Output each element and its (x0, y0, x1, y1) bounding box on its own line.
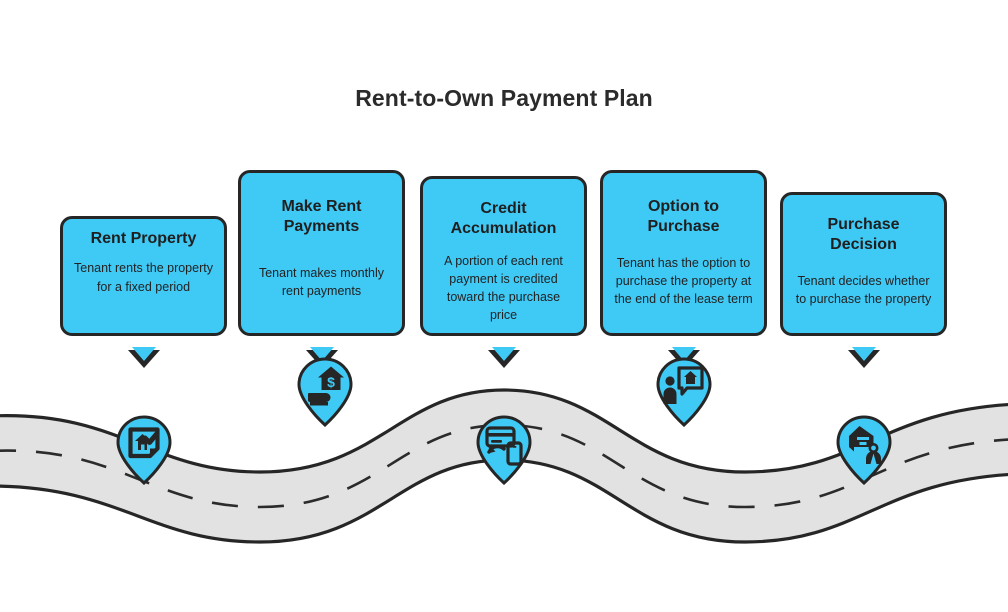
svg-text:$: $ (327, 374, 335, 390)
step-title: Credit Accumulation (433, 199, 574, 240)
step-title: Rent Property (91, 229, 197, 249)
step-description: Tenant has the option to purchase the pr… (613, 254, 754, 308)
house-dollar-hand-icon: $ (296, 357, 354, 427)
credit-card-mobile-payment-icon (475, 415, 533, 485)
map-pin-4[interactable] (655, 357, 713, 427)
step-card-2[interactable]: Make Rent Payments Tenant makes monthly … (238, 170, 405, 336)
step-title: Purchase Decision (793, 215, 934, 256)
step-card-5[interactable]: Purchase Decision Tenant decides whether… (780, 192, 947, 336)
map-pin-3[interactable] (475, 415, 533, 485)
step-description: A portion of each rent payment is credit… (433, 252, 574, 325)
step-title: Option to Purchase (613, 197, 754, 238)
map-pin-1[interactable] (115, 415, 173, 485)
step-card-3[interactable]: Credit Accumulation A portion of each re… (420, 176, 587, 336)
person-house-speech-bubble-icon (655, 357, 713, 427)
map-pin-2[interactable]: $ (296, 357, 354, 427)
infographic-canvas: Rent-to-Own Payment Plan Rent Property T… (0, 0, 1008, 612)
step-card-4[interactable]: Option to Purchase Tenant has the option… (600, 170, 767, 336)
step-description: Tenant rents the property for a fixed pe… (73, 259, 214, 295)
step-card-1[interactable]: Rent Property Tenant rents the property … (60, 216, 227, 336)
house-check-document-icon (115, 415, 173, 485)
step-description: Tenant makes monthly rent payments (251, 264, 392, 300)
house-bubble-person-icon (835, 415, 893, 485)
step-description: Tenant decides whether to purchase the p… (793, 272, 934, 308)
map-pin-5[interactable] (835, 415, 893, 485)
step-title: Make Rent Payments (251, 197, 392, 238)
